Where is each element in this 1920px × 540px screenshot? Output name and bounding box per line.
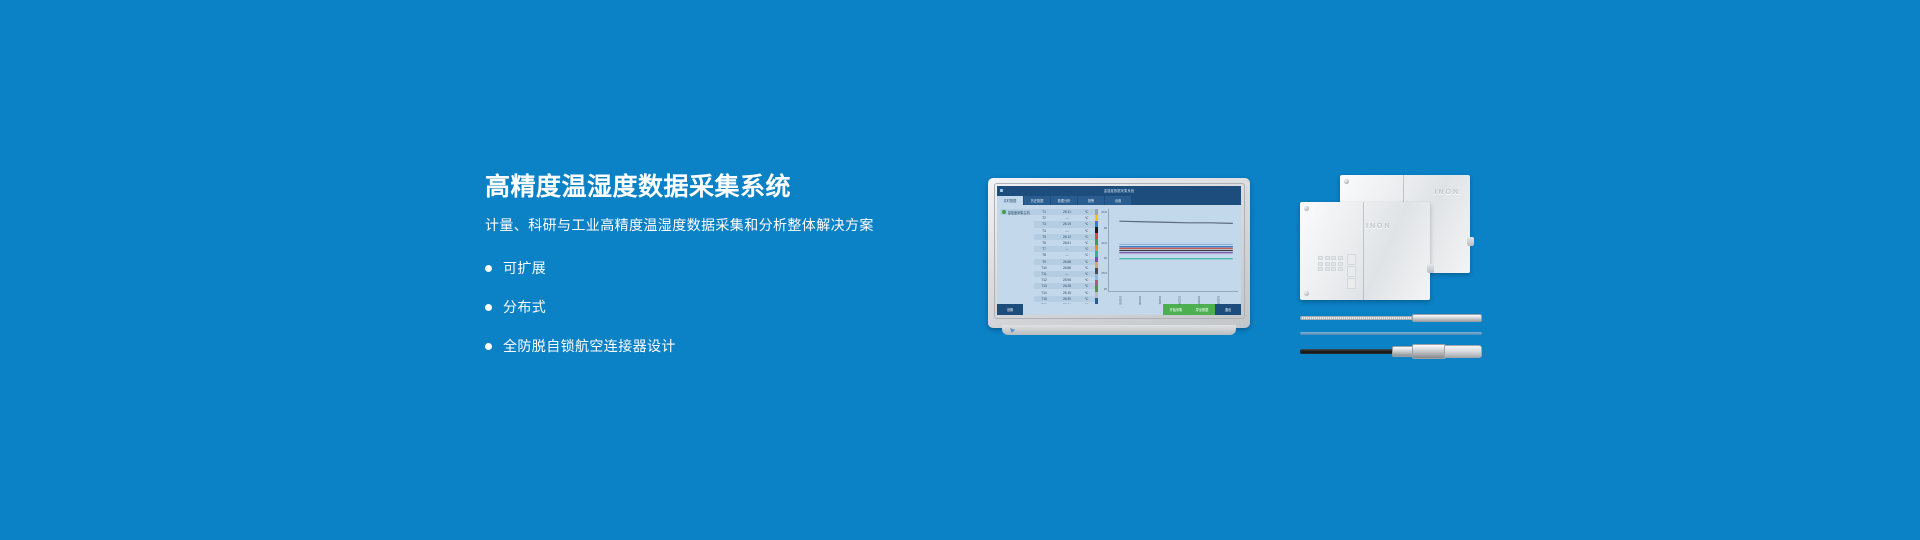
chart-x-tick-label: 10:21:00 <box>1138 296 1141 305</box>
channel-value-cell: 26.58 <box>1054 260 1080 264</box>
monitor-stand <box>1002 325 1236 335</box>
logger-key <box>1325 267 1330 271</box>
chart-y-tick-label: 26 <box>1104 226 1107 230</box>
chart-y-tick-label: 25.5 <box>1102 271 1107 275</box>
channel-name-cell: T14 <box>1034 291 1054 295</box>
app-tab-strip: 实时数据 历史数据 数据分析 报警 设置 <box>997 195 1241 205</box>
probe-ferrule <box>1392 346 1414 357</box>
channel-table: T125.31℃T2---℃T326.19℃T4---℃T526.12℃T626… <box>1034 205 1095 304</box>
channel-unit-cell: ℃ <box>1080 272 1093 276</box>
logger-keypad <box>1318 256 1343 271</box>
monitor-screen: 温湿度数据采集系统 实时数据 历史数据 数据分析 报警 设置 温湿度采集主机 T… <box>997 186 1241 315</box>
sensor-probe-product-image <box>1300 312 1482 364</box>
chart-y-tick-label: 26.0 <box>1102 241 1107 245</box>
bullet-dot-icon <box>485 304 492 311</box>
export-data-button[interactable]: 导出数据 <box>1189 304 1215 315</box>
feature-label: 分布式 <box>503 298 546 316</box>
logger-sensor-jack <box>1347 266 1356 277</box>
logger-seam <box>1363 202 1364 300</box>
channel-unit-cell: ℃ <box>1080 229 1093 233</box>
probe-locking-barrel <box>1412 344 1446 359</box>
channel-name-cell: T1 <box>1034 210 1054 214</box>
bullet-dot-icon <box>485 343 492 350</box>
channel-unit-cell: ℃ <box>1080 216 1093 220</box>
chart-series-svg <box>1109 209 1238 292</box>
device-tree-sidebar: 温湿度采集主机 <box>997 205 1034 304</box>
channel-name-cell: T11 <box>1034 272 1054 276</box>
feature-list: 可扩展 分布式 全防脱自锁航空连接器设计 <box>485 255 955 359</box>
logger-key <box>1318 262 1323 266</box>
logger-key <box>1318 267 1323 271</box>
tab-realtime[interactable]: 实时数据 <box>997 196 1023 205</box>
chart-x-tick-label: 10:22:11 <box>1158 296 1161 304</box>
channel-value-cell: 26.15 <box>1054 291 1080 295</box>
probe-cable <box>1300 316 1418 320</box>
channel-name-cell: T8 <box>1034 253 1054 257</box>
channel-value-cell: --- <box>1054 216 1080 220</box>
channel-value-cell: 26.28 <box>1054 284 1080 288</box>
logger-key <box>1331 267 1336 271</box>
app-footer-toolbar: 设置 开始采集 导出数据 退出 <box>997 304 1241 315</box>
sidebar-item-device[interactable]: 温湿度采集主机 <box>1000 209 1034 215</box>
logger-key <box>1325 256 1330 260</box>
channel-unit-cell: ℃ <box>1080 278 1093 282</box>
channel-value-cell: 26.88 <box>1054 266 1080 270</box>
tab-alarm[interactable]: 报警 <box>1078 196 1104 205</box>
logger-key <box>1318 256 1323 260</box>
channel-unit-cell: ℃ <box>1080 241 1093 245</box>
channel-value-cell: --- <box>1054 253 1080 257</box>
logger-key <box>1338 267 1343 271</box>
channel-unit-cell: ℃ <box>1080 235 1093 239</box>
logger-brand-label: INON <box>1435 189 1461 196</box>
app-title-bar: 温湿度数据采集系统 <box>997 186 1241 195</box>
channel-value-cell: --- <box>1054 272 1080 276</box>
page-title: 高精度温湿度数据采集系统 <box>485 172 955 202</box>
channel-unit-cell: ℃ <box>1080 266 1093 270</box>
logger-key <box>1325 262 1330 266</box>
footer-spacer <box>1023 304 1163 315</box>
logger-key <box>1338 262 1343 266</box>
probe-metal-tip <box>1412 314 1482 322</box>
page-subtitle: 计量、科研与工业高精度温湿度数据采集和分析整体解决方案 <box>485 215 955 235</box>
probe-cable <box>1300 349 1396 354</box>
channel-name-cell: T3 <box>1034 222 1054 226</box>
channel-unit-cell: ℃ <box>1080 260 1093 264</box>
channel-color-legend <box>1095 209 1098 304</box>
feature-label: 可扩展 <box>503 259 546 277</box>
channel-unit-cell: ℃ <box>1080 253 1093 257</box>
channel-unit-cell: ℃ <box>1080 222 1093 226</box>
list-item: 可扩展 <box>485 255 955 281</box>
monitor-product-image: 温湿度数据采集系统 实时数据 历史数据 数据分析 报警 设置 温湿度采集主机 T… <box>988 178 1250 328</box>
logger-connector-port <box>1467 237 1474 246</box>
channel-name-cell: T10 <box>1034 266 1054 270</box>
logger-screw-icon <box>1304 206 1309 211</box>
app-body: 温湿度采集主机 T125.31℃T2---℃T326.19℃T4---℃T526… <box>997 205 1241 304</box>
data-logger-product-image: INON INON <box>1300 175 1480 330</box>
start-capture-button[interactable]: 开始采集 <box>1163 304 1189 315</box>
channel-name-cell: T9 <box>1034 260 1054 264</box>
bullet-dot-icon <box>485 265 492 272</box>
product-banner: 高精度温湿度数据采集系统 计量、科研与工业高精度温湿度数据采集和分析整体解决方案… <box>0 0 1920 540</box>
logger-screw-icon <box>1344 179 1349 184</box>
channel-name-cell: T2 <box>1034 216 1054 220</box>
channel-name-cell: T6 <box>1034 241 1054 245</box>
logger-connector-port <box>1427 264 1434 273</box>
chart-y-tick-label: 26.5 <box>1102 210 1107 214</box>
channel-unit-cell: ℃ <box>1080 210 1093 214</box>
list-item: 分布式 <box>485 294 955 320</box>
channel-name-cell: T12 <box>1034 278 1054 282</box>
channel-name-cell: T13 <box>1034 284 1054 288</box>
chart-y-tick-label: 26 <box>1104 256 1107 260</box>
realtime-chart: 26.52626.02625.525 10:20:0210:21:0010:22… <box>1099 209 1239 304</box>
channel-name-cell: T4 <box>1034 229 1054 233</box>
channel-unit-cell: ℃ <box>1080 297 1093 301</box>
chart-x-tick-label: 10:24:07 <box>1197 296 1200 305</box>
app-window-title: 温湿度数据采集系统 <box>997 188 1241 193</box>
channel-value-cell: 26.90 <box>1054 297 1080 301</box>
channel-value-cell: 26.61 <box>1054 241 1080 245</box>
channel-value-cell: 25.31 <box>1054 210 1080 214</box>
logger-screw-icon <box>1304 291 1309 296</box>
channel-unit-cell: ℃ <box>1080 284 1093 288</box>
status-online-icon <box>1002 210 1006 214</box>
list-item: 全防脱自锁航空连接器设计 <box>485 333 955 359</box>
tab-settings[interactable]: 设置 <box>1105 196 1131 205</box>
probe-cable <box>1300 332 1482 335</box>
data-logger-front-unit: INON <box>1300 202 1430 300</box>
channel-name-cell: T5 <box>1034 235 1054 239</box>
logger-key <box>1331 262 1336 266</box>
channel-name-cell: T15 <box>1034 297 1054 301</box>
channel-name-cell: T7 <box>1034 247 1054 251</box>
logger-sensor-jack <box>1347 278 1356 289</box>
chart-y-axis: 26.52626.02625.525 <box>1099 209 1109 292</box>
channel-value-cell: 26.19 <box>1054 222 1080 226</box>
channel-value-cell: 26.12 <box>1054 235 1080 239</box>
channel-unit-cell: ℃ <box>1080 291 1093 295</box>
logger-brand-label: INON <box>1366 223 1392 230</box>
chart-x-tick-label: 10:23:04 <box>1177 296 1180 305</box>
tab-history[interactable]: 历史数据 <box>1024 196 1050 205</box>
exit-button[interactable]: 退出 <box>1215 304 1241 315</box>
channel-value-cell: --- <box>1054 247 1080 251</box>
channel-value-cell: 25.96 <box>1054 278 1080 282</box>
chart-x-tick-label: 10:25:00 <box>1217 296 1220 305</box>
logger-sensor-jack <box>1347 254 1356 265</box>
chart-y-tick-label: 25 <box>1104 287 1107 291</box>
device-tree-label: 温湿度采集主机 <box>1008 210 1030 215</box>
chart-x-axis-line <box>1108 291 1238 292</box>
logger-key <box>1338 256 1343 260</box>
settings-button[interactable]: 设置 <box>997 304 1023 315</box>
chart-plot-area <box>1109 209 1238 292</box>
channel-value-cell: --- <box>1054 229 1080 233</box>
chart-series-line <box>1119 221 1233 223</box>
channel-unit-cell: ℃ <box>1080 247 1093 251</box>
probe-sensor-sheath <box>1444 345 1482 358</box>
banner-copy: 高精度温湿度数据采集系统 计量、科研与工业高精度温湿度数据采集和分析整体解决方案… <box>485 172 955 372</box>
feature-label: 全防脱自锁航空连接器设计 <box>503 337 676 355</box>
tab-analysis[interactable]: 数据分析 <box>1051 196 1077 205</box>
chart-x-tick-label: 10:20:02 <box>1119 296 1122 305</box>
logger-key <box>1331 256 1336 260</box>
